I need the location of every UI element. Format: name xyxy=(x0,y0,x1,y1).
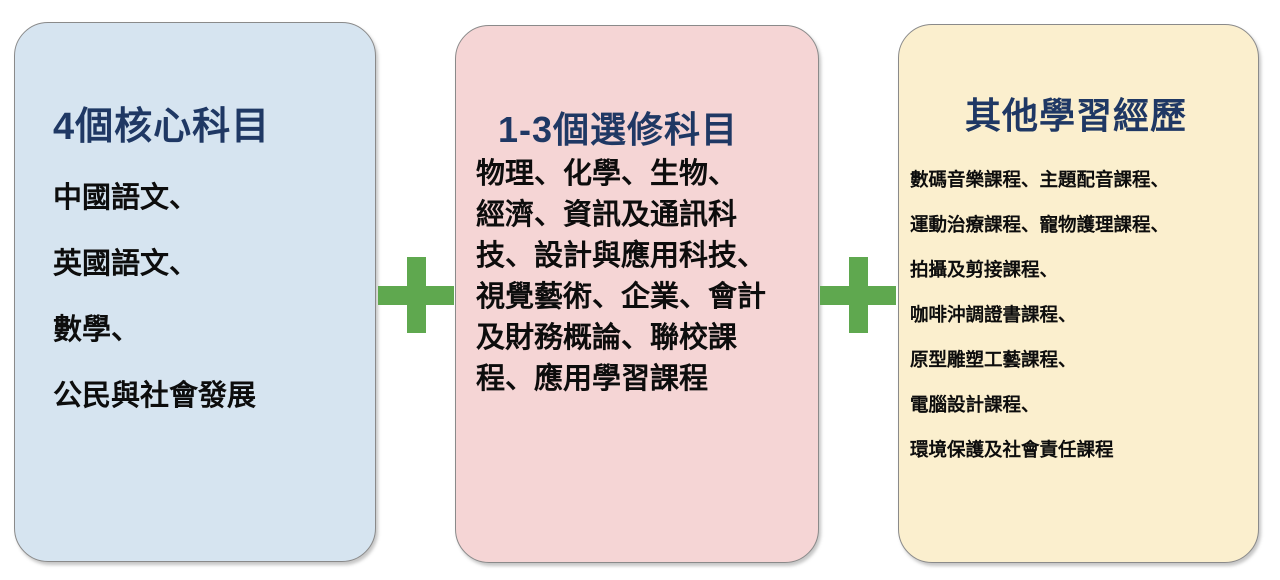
list-item: 及財務概論、聯校課 xyxy=(476,318,806,359)
elective-subjects-card: 1-3個選修科目 物理、化學、生物、 經濟、資訊及通訊科 技、設計與應用科技、 … xyxy=(455,25,819,563)
list-item: 運動治療課程、寵物護理課程、 xyxy=(910,202,1255,247)
list-item: 原型雕塑工藝課程、 xyxy=(910,337,1255,382)
plus-icon xyxy=(378,257,454,333)
list-item: 程、應用學習課程 xyxy=(476,359,806,400)
list-item: 環境保護及社會責任課程 xyxy=(910,427,1255,472)
other-learning-experiences-title: 其他學習經歷 xyxy=(965,87,1187,139)
plus-icon xyxy=(820,257,896,333)
list-item: 物理、化學、生物、 xyxy=(476,154,806,195)
list-item: 數碼音樂課程、主題配音課程、 xyxy=(910,157,1255,202)
list-item: 拍攝及剪接課程、 xyxy=(910,247,1255,292)
list-item: 數學、 xyxy=(53,297,256,363)
list-item: 經濟、資訊及通訊科 xyxy=(476,195,806,236)
list-item: 視覺藝術、企業、會計 xyxy=(476,277,806,318)
list-item: 電腦設計課程、 xyxy=(910,382,1255,427)
list-item: 中國語文、 xyxy=(53,165,256,231)
core-subjects-list: 中國語文、 英國語文、 數學、 公民與社會發展 xyxy=(53,165,256,429)
elective-subjects-list: 物理、化學、生物、 經濟、資訊及通訊科 技、設計與應用科技、 視覺藝術、企業、會… xyxy=(476,154,806,400)
other-learning-experiences-card: 其他學習經歷 數碼音樂課程、主題配音課程、 運動治療課程、寵物護理課程、 拍攝及… xyxy=(898,24,1259,563)
core-subjects-card: 4個核心科目 中國語文、 英國語文、 數學、 公民與社會發展 xyxy=(14,22,376,562)
diagram-canvas: 4個核心科目 中國語文、 英國語文、 數學、 公民與社會發展 1-3個選修科目 … xyxy=(0,0,1280,580)
list-item: 公民與社會發展 xyxy=(53,363,256,429)
list-item: 英國語文、 xyxy=(53,231,256,297)
other-learning-experiences-list: 數碼音樂課程、主題配音課程、 運動治療課程、寵物護理課程、 拍攝及剪接課程、 咖… xyxy=(910,157,1255,472)
list-item: 技、設計與應用科技、 xyxy=(476,236,806,277)
list-item: 咖啡沖調證書課程、 xyxy=(910,292,1255,337)
elective-subjects-title: 1-3個選修科目 xyxy=(498,101,738,153)
core-subjects-title: 4個核心科目 xyxy=(53,95,270,150)
plus-icon-vertical-bar xyxy=(407,257,426,333)
plus-icon-vertical-bar xyxy=(849,257,868,333)
